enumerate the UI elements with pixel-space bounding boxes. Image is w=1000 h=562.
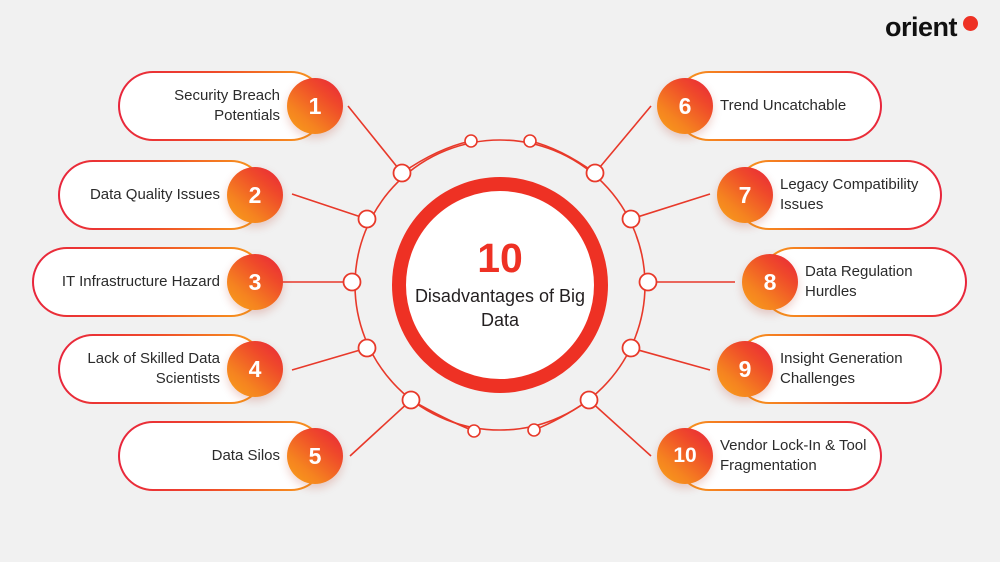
item-card-4[interactable]: Lack of Skilled Data Scientists 4 <box>58 334 266 404</box>
hub-caption: Disadvantages of Big Data <box>413 285 588 331</box>
item-card-8-number: 8 <box>742 254 798 310</box>
item-card-9-label: Insight Generation Challenges <box>780 349 940 389</box>
item-card-10-number: 10 <box>657 428 713 484</box>
item-card-5-number: 5 <box>287 428 343 484</box>
hub-number: 10 <box>477 238 523 279</box>
item-card-7[interactable]: Legacy Compatibility Issues 7 <box>734 160 942 230</box>
item-card-6-number: 6 <box>657 78 713 134</box>
item-card-3-label: IT Infrastructure Hazard <box>62 272 220 292</box>
item-card-4-number: 4 <box>227 341 283 397</box>
item-card-10[interactable]: Vendor Lock-In & Tool Fragmentation 10 <box>674 421 882 491</box>
item-card-7-label: Legacy Compatibility Issues <box>780 175 940 215</box>
item-card-5[interactable]: Data Silos 5 <box>118 421 326 491</box>
item-card-1-label: Security Breach Potentials <box>120 86 280 126</box>
item-card-3[interactable]: IT Infrastructure Hazard 3 <box>32 247 266 317</box>
item-card-8-label: Data Regulation Hurdles <box>805 262 965 302</box>
hub-circle: 10 Disadvantages of Big Data <box>392 177 608 393</box>
item-card-9[interactable]: Insight Generation Challenges 9 <box>734 334 942 404</box>
item-card-2-label: Data Quality Issues <box>90 185 220 205</box>
item-card-6[interactable]: Trend Uncatchable 6 <box>674 71 882 141</box>
infographic-canvas: orient <box>0 0 1000 562</box>
item-card-1[interactable]: Security Breach Potentials 1 <box>118 71 326 141</box>
item-card-3-number: 3 <box>227 254 283 310</box>
item-card-6-label: Trend Uncatchable <box>720 96 846 116</box>
item-card-2-number: 2 <box>227 167 283 223</box>
item-card-7-number: 7 <box>717 167 773 223</box>
item-card-4-label: Lack of Skilled Data Scientists <box>60 349 220 389</box>
item-card-9-number: 9 <box>717 341 773 397</box>
item-card-2[interactable]: Data Quality Issues 2 <box>58 160 266 230</box>
item-card-8[interactable]: Data Regulation Hurdles 8 <box>759 247 967 317</box>
item-card-1-number: 1 <box>287 78 343 134</box>
item-card-5-label: Data Silos <box>212 446 280 466</box>
item-card-10-label: Vendor Lock-In & Tool Fragmentation <box>720 436 880 476</box>
